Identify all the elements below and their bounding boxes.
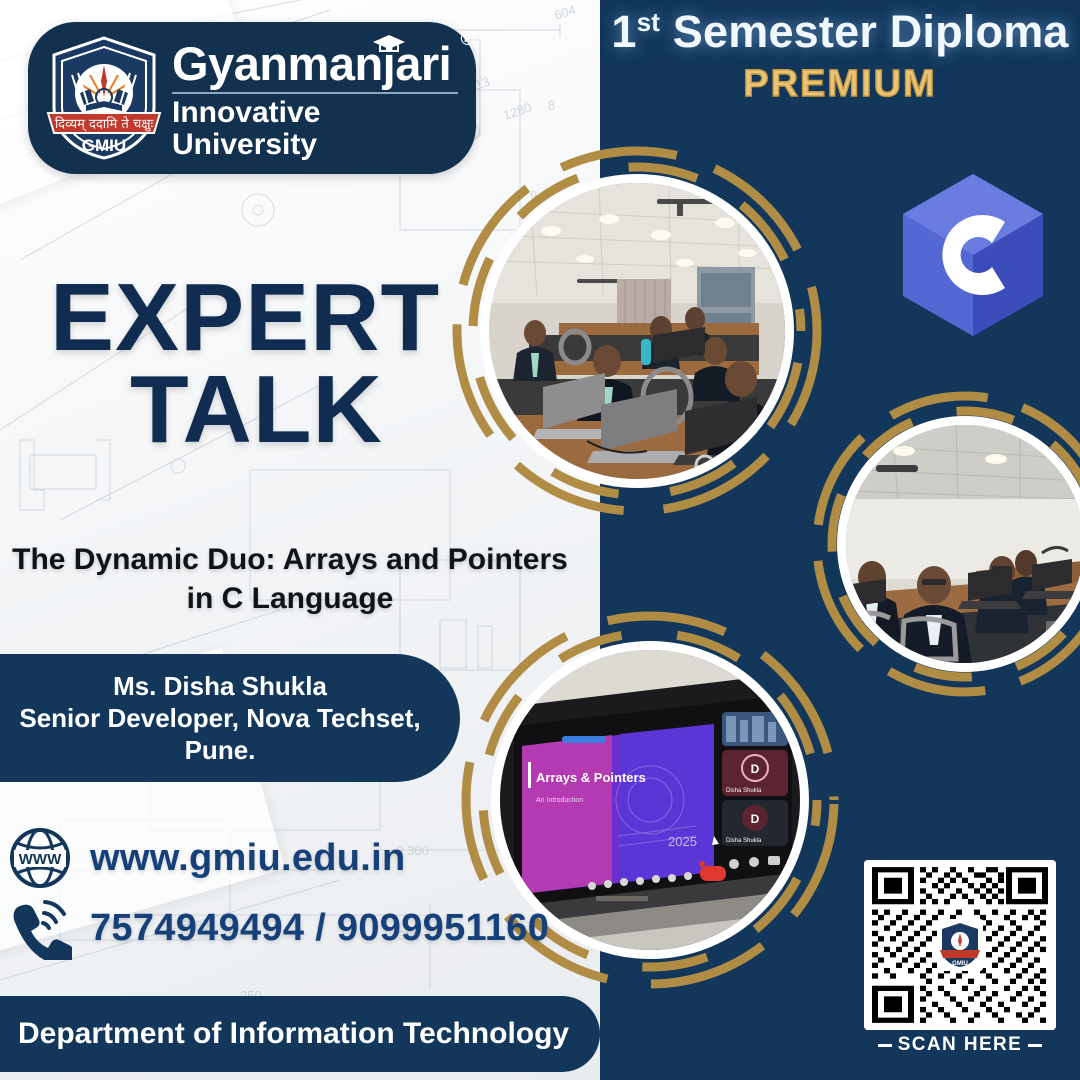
website-contact[interactable]: WWW www.gmiu.edu.in — [8, 826, 406, 890]
participant-name: Disha Shukla — [726, 788, 762, 794]
phone-ringing-icon — [8, 896, 72, 960]
registered-mark: ® — [461, 30, 475, 49]
semester-number: 1 — [611, 6, 636, 57]
university-logo-block: दिव्यम् ददामि ते चक्षुः GMIU Gyanmanjari… — [28, 22, 476, 174]
slide-subtitle: An Introduction — [536, 797, 583, 804]
website-url[interactable]: www.gmiu.edu.in — [90, 837, 406, 880]
page-title: EXPERT TALK — [0, 272, 520, 456]
scan-dash-right — [1028, 1044, 1042, 1047]
qr-code-block[interactable]: GMIU SCAN HERE — [852, 848, 1068, 1070]
participant-initial: D — [751, 812, 760, 826]
participant-name: Disha Shukla — [726, 838, 762, 844]
speaker-details: Ms. Disha Shukla Senior Developer, Nova … — [19, 670, 420, 767]
shield-motto-text: दिव्यम् ददामि ते चक्षुः — [55, 116, 154, 132]
semester-title: 1st Semester Diploma — [600, 8, 1080, 55]
phone-numbers[interactable]: 7574949494 / 9099951160 — [90, 907, 549, 950]
speaker-role: Senior Developer, Nova Techset, — [19, 702, 420, 734]
scan-here-label: SCAN HERE — [898, 1034, 1023, 1056]
semester-ordinal: st — [637, 7, 661, 37]
svg-text:GMIU: GMIU — [952, 961, 968, 967]
slide-year: 2025 — [668, 834, 697, 849]
shield-abbr-text: GMIU — [82, 136, 126, 155]
photo-students-in-blazers-at-computers — [846, 425, 1080, 663]
globe-www-icon: WWW — [8, 826, 72, 890]
slide-title: Arrays & Pointers — [536, 770, 646, 785]
topic-line-1: The Dynamic Duo: Arrays and Pointers — [10, 540, 570, 579]
semester-rest: Semester Diploma — [660, 6, 1069, 57]
logo-subtitle: Innovative University — [172, 97, 458, 160]
topic-line-2: in C Language — [10, 579, 570, 618]
title-line-1: EXPERT — [0, 272, 520, 364]
c-language-logo-icon — [893, 170, 1053, 340]
talk-topic: The Dynamic Duo: Arrays and Pointers in … — [10, 540, 570, 618]
logo-wordmark: Gyanmanjari ® Innovative University — [172, 36, 458, 160]
scan-here-row: SCAN HERE — [864, 1034, 1056, 1056]
title-line-2: TALK — [0, 364, 520, 456]
logo-divider — [172, 92, 458, 94]
speaker-card: Ms. Disha Shukla Senior Developer, Nova … — [0, 654, 460, 782]
premium-badge: PREMIUM — [600, 63, 1080, 106]
www-label: WWW — [19, 851, 62, 868]
department-label: Department of Information Technology — [18, 1017, 569, 1051]
gmiu-shield-icon: दिव्यम् ददामि ते चक्षुः GMIU — [46, 35, 162, 161]
svg-text:1280: 1280 — [501, 100, 533, 123]
scan-dash-left — [878, 1044, 892, 1047]
department-banner: Department of Information Technology — [0, 996, 600, 1072]
graduation-cap-icon — [372, 34, 406, 54]
header: 1st Semester Diploma PREMIUM — [600, 8, 1080, 106]
phone-contact[interactable]: 7574949494 / 9099951160 — [8, 896, 549, 960]
svg-text:604: 604 — [552, 2, 577, 23]
logo-name: Gyanmanjari ® — [172, 40, 458, 87]
qr-embedded-logo: GMIU — [937, 919, 983, 971]
qr-code-image[interactable]: GMIU — [864, 860, 1056, 1030]
speaker-name: Ms. Disha Shukla — [19, 670, 420, 702]
poster: 3200 2125 813 1280 456 604 -0.300 5080 3… — [0, 0, 1080, 1080]
speaker-city: Pune. — [19, 734, 420, 766]
gmiu-shield-mini-icon: GMIU — [940, 922, 980, 968]
logo-name-text: Gyanmanjari — [172, 37, 451, 90]
svg-text:8: 8 — [548, 98, 555, 113]
photo-classroom-students-laptops — [489, 183, 785, 479]
participant-initial: D — [751, 762, 760, 776]
